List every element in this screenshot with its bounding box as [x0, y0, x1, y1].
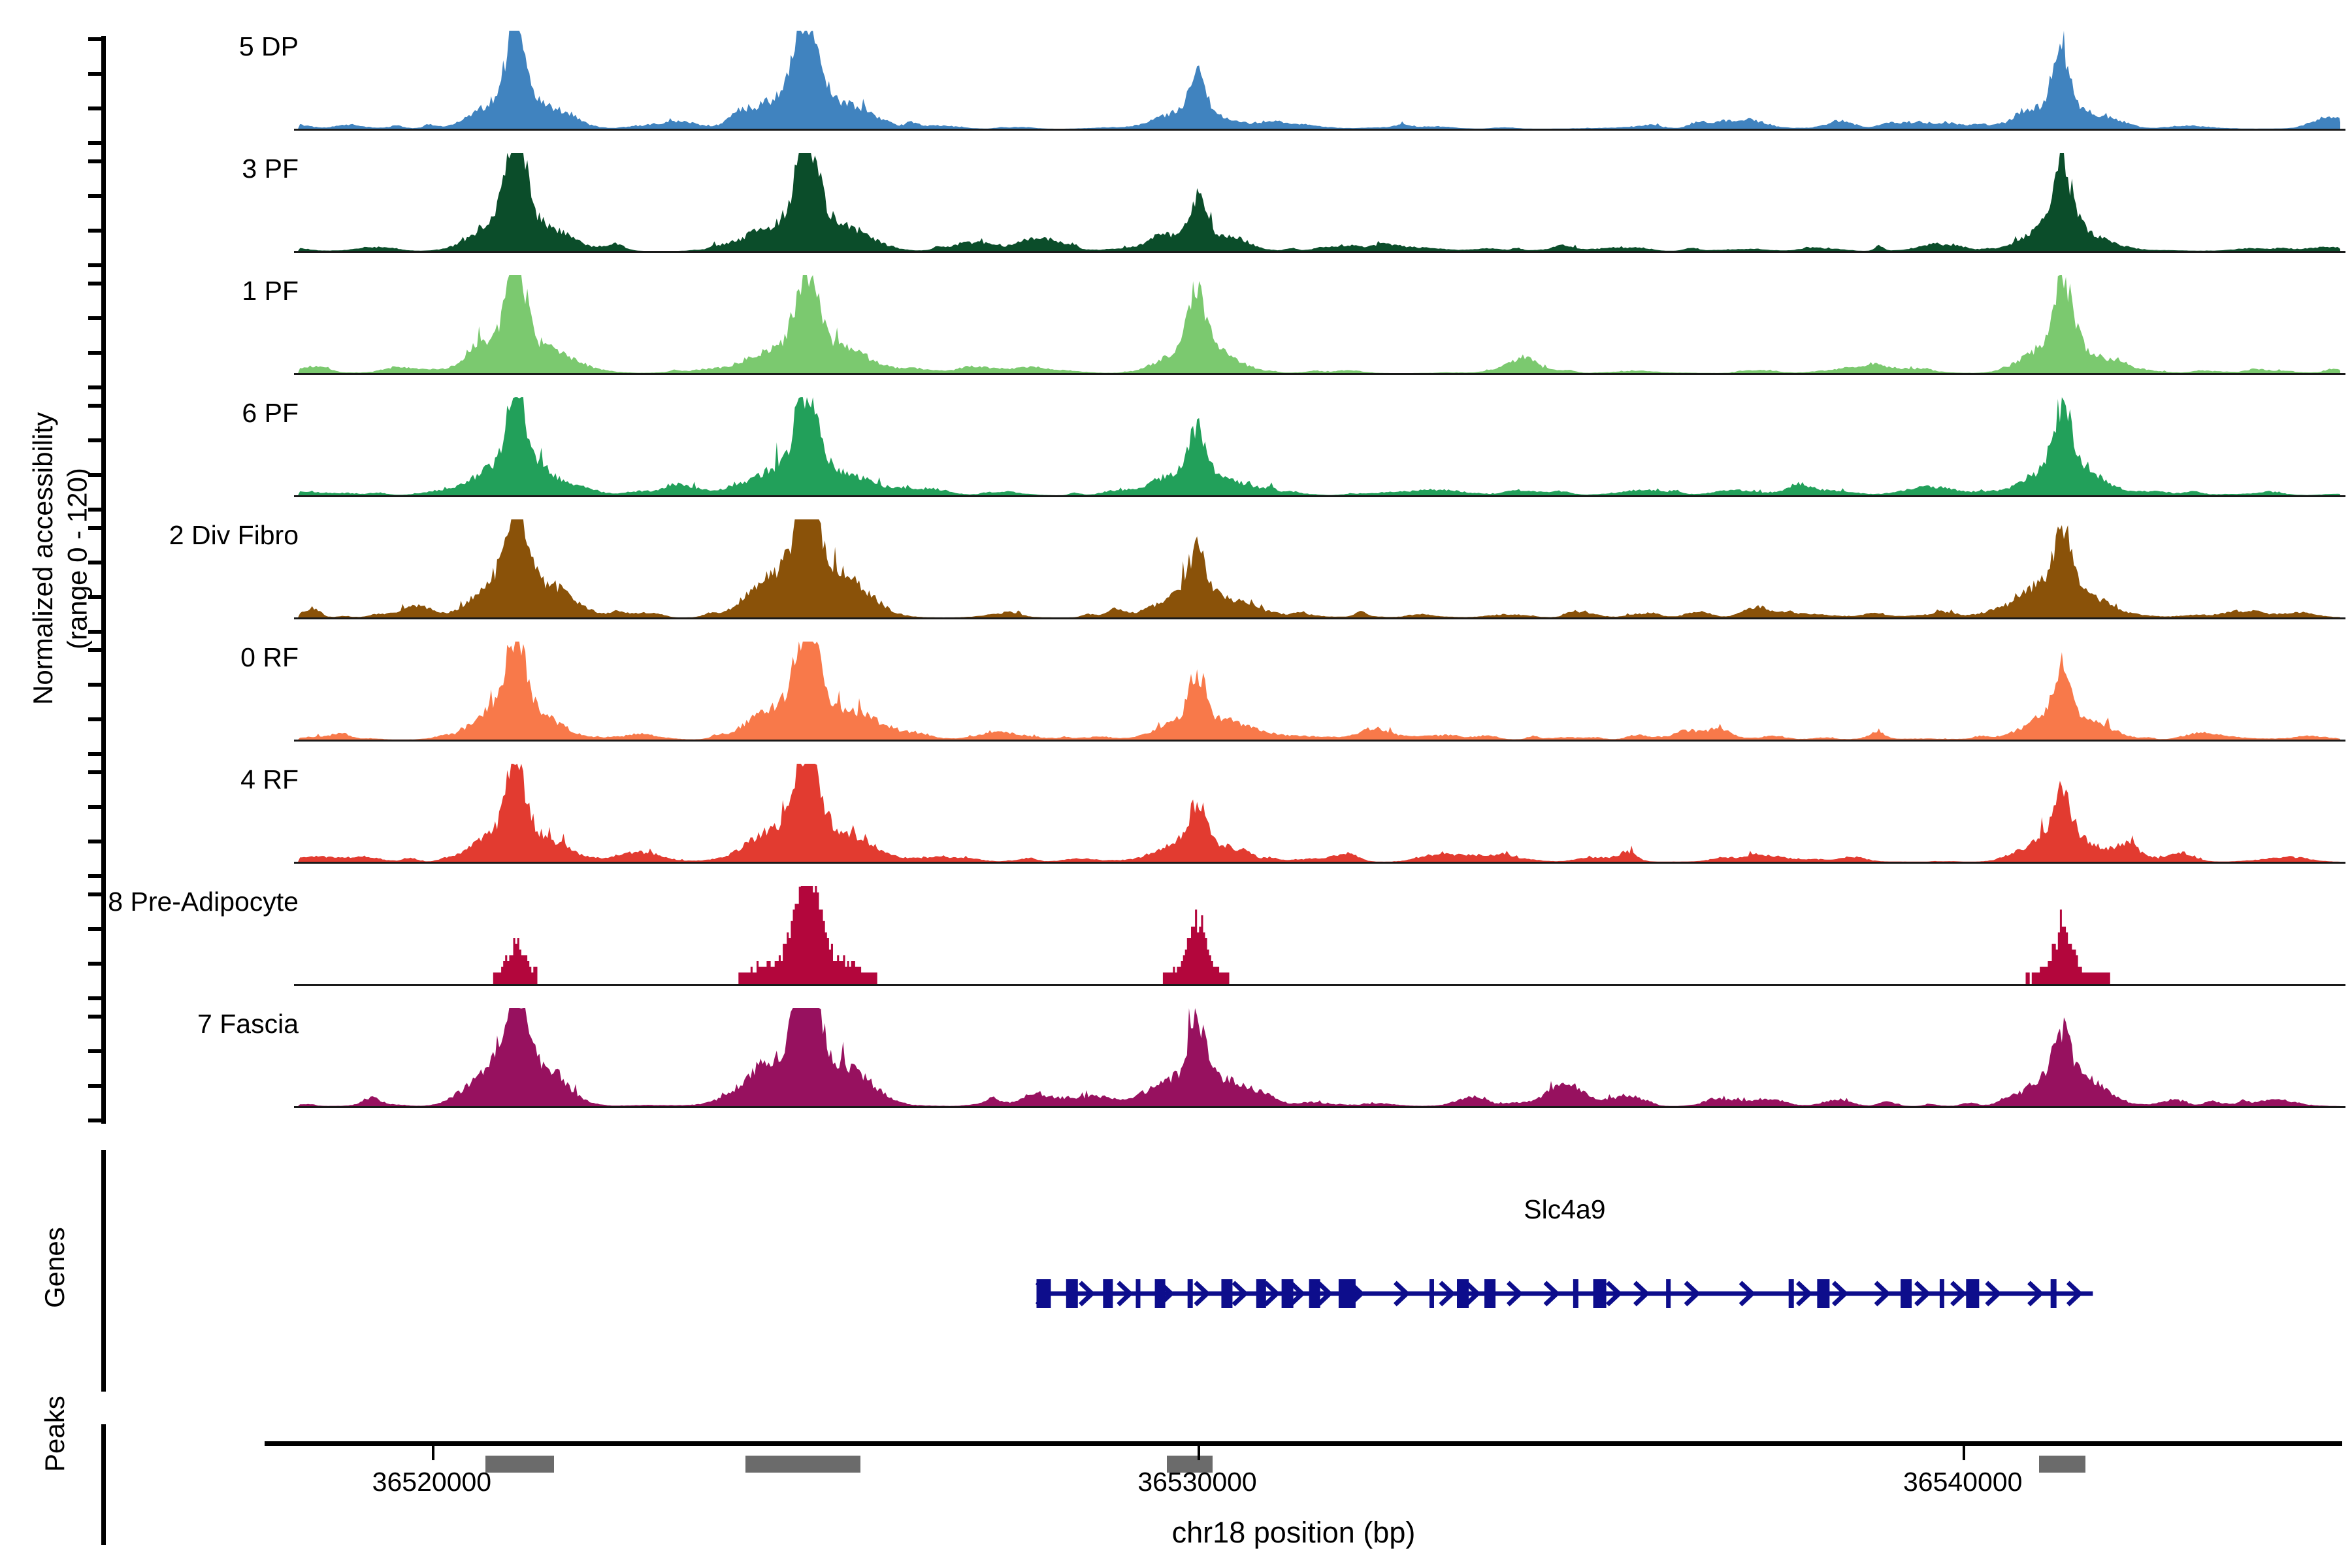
track-baseline — [294, 740, 2345, 742]
y-axis-tick — [88, 473, 103, 477]
track-baseline — [294, 251, 2345, 253]
coverage-track-0-rf: 0 RF — [106, 637, 2340, 742]
gene-exon — [1188, 1279, 1193, 1308]
coverage-profile — [106, 393, 2340, 497]
coverage-profile — [106, 1004, 2340, 1108]
y-axis-tick — [88, 194, 103, 198]
y-axis-label-peaks: Peaks — [38, 1326, 77, 1542]
peak-region-bar — [745, 1456, 860, 1473]
y-axis-tick — [88, 1015, 103, 1019]
gene-exon — [1066, 1279, 1078, 1308]
gene-exon — [1666, 1279, 1671, 1308]
y-axis-tick — [88, 630, 103, 634]
y-axis-tick — [88, 438, 103, 442]
coverage-profile — [106, 270, 2340, 375]
y-axis-tick — [88, 996, 103, 1000]
gene-model-slc4a9 — [106, 1271, 2340, 1316]
y-axis-label-accessibility: Normalized accessibility (range 0 - 120) — [26, 281, 98, 836]
y-axis-tick — [88, 316, 103, 320]
coverage-profile — [106, 759, 2340, 864]
y-axis-tick — [88, 962, 103, 966]
gene-exon — [1429, 1279, 1434, 1308]
y-axis-tick — [88, 106, 103, 110]
y-axis-tick — [88, 717, 103, 721]
coverage-profile — [106, 515, 2340, 619]
y-axis-tick — [88, 159, 103, 163]
y-axis-tick — [88, 229, 103, 233]
y-axis-tick — [88, 508, 103, 512]
gene-label-slc4a9: Slc4a9 — [1524, 1194, 1605, 1225]
gene-exon — [1573, 1279, 1578, 1308]
gene-exon — [1901, 1279, 1912, 1308]
x-axis-tick — [1198, 1446, 1200, 1460]
peak-region-bar — [485, 1456, 554, 1473]
gene-exon — [1817, 1279, 1829, 1308]
y-axis-tick — [88, 282, 103, 286]
accessibility-axis-spine — [101, 36, 106, 1124]
coverage-profile — [106, 26, 2340, 131]
track-baseline — [294, 617, 2345, 619]
y-axis-tick — [88, 351, 103, 355]
coverage-track-8-pre-adipocyte: 8 Pre-Adipocyte — [106, 881, 2340, 986]
y-axis-tick — [88, 141, 103, 145]
y-axis-tick — [88, 1049, 103, 1053]
gene-exon — [1966, 1279, 1979, 1308]
coverage-track-1-pf: 1 PF — [106, 270, 2340, 375]
y-axis-tick — [88, 927, 103, 931]
coverage-profile — [106, 881, 2340, 986]
coverage-track-2-div-fibro: 2 Div Fibro — [106, 515, 2340, 619]
coverage-tracks-panel: 5 DP3 PF1 PF6 PF2 Div Fibro0 RF4 RF8 Pre… — [106, 26, 2340, 1130]
gene-exon — [2051, 1279, 2057, 1308]
y-axis-tick — [88, 770, 103, 774]
gene-exon — [1593, 1279, 1607, 1308]
gene-exon — [1484, 1279, 1495, 1308]
coverage-track-6-pf: 6 PF — [106, 393, 2340, 497]
y-axis-tick — [88, 648, 103, 652]
y-axis-tick — [88, 683, 103, 687]
gene-exon — [1940, 1279, 1944, 1308]
y-axis-tick — [88, 874, 103, 878]
x-axis-tick-label: 36530000 — [1137, 1467, 1256, 1497]
genes-track-panel: Slc4a9 — [106, 1150, 2340, 1392]
track-baseline — [294, 862, 2345, 864]
y-axis-tick — [88, 1084, 103, 1088]
x-axis-label: chr18 position (bp) — [1172, 1516, 1416, 1550]
x-axis-tick-label: 36540000 — [1903, 1467, 2022, 1497]
y-axis-tick — [88, 805, 103, 809]
track-baseline — [294, 495, 2345, 497]
peaks-axis-spine — [101, 1424, 106, 1545]
x-axis-line — [265, 1441, 2342, 1446]
track-baseline — [294, 1106, 2345, 1108]
y-axis-tick — [88, 404, 103, 408]
coverage-track-3-pf: 3 PF — [106, 148, 2340, 253]
genes-axis-spine — [101, 1150, 106, 1392]
gene-exon — [1789, 1279, 1794, 1308]
gene-exon — [1135, 1279, 1140, 1308]
y-axis-tick — [88, 892, 103, 896]
x-axis-tick-label: 36520000 — [372, 1467, 491, 1497]
coverage-track-4-rf: 4 RF — [106, 759, 2340, 864]
y-axis-tick — [88, 72, 103, 76]
coverage-track-7-fascia: 7 Fascia — [106, 1004, 2340, 1108]
y-axis-tick — [88, 752, 103, 756]
peak-region-bar — [2039, 1456, 2085, 1473]
coverage-profile — [106, 637, 2340, 742]
gene-exon — [1103, 1279, 1113, 1308]
coverage-track-5-dp: 5 DP — [106, 26, 2340, 131]
y-axis-tick — [88, 561, 103, 564]
track-baseline — [294, 373, 2345, 375]
y-axis-tick — [88, 1119, 103, 1122]
x-axis-tick — [1963, 1446, 1965, 1460]
y-axis-tick — [88, 595, 103, 599]
gene-exon — [1221, 1279, 1232, 1308]
y-axis-tick — [88, 263, 103, 267]
y-axis-tick — [88, 526, 103, 530]
y-axis-tick — [88, 37, 103, 41]
track-baseline — [294, 984, 2345, 986]
track-baseline — [294, 129, 2345, 131]
y-axis-tick — [88, 385, 103, 389]
x-axis-tick — [432, 1446, 434, 1460]
coverage-profile — [106, 148, 2340, 253]
y-axis-tick — [88, 840, 103, 843]
